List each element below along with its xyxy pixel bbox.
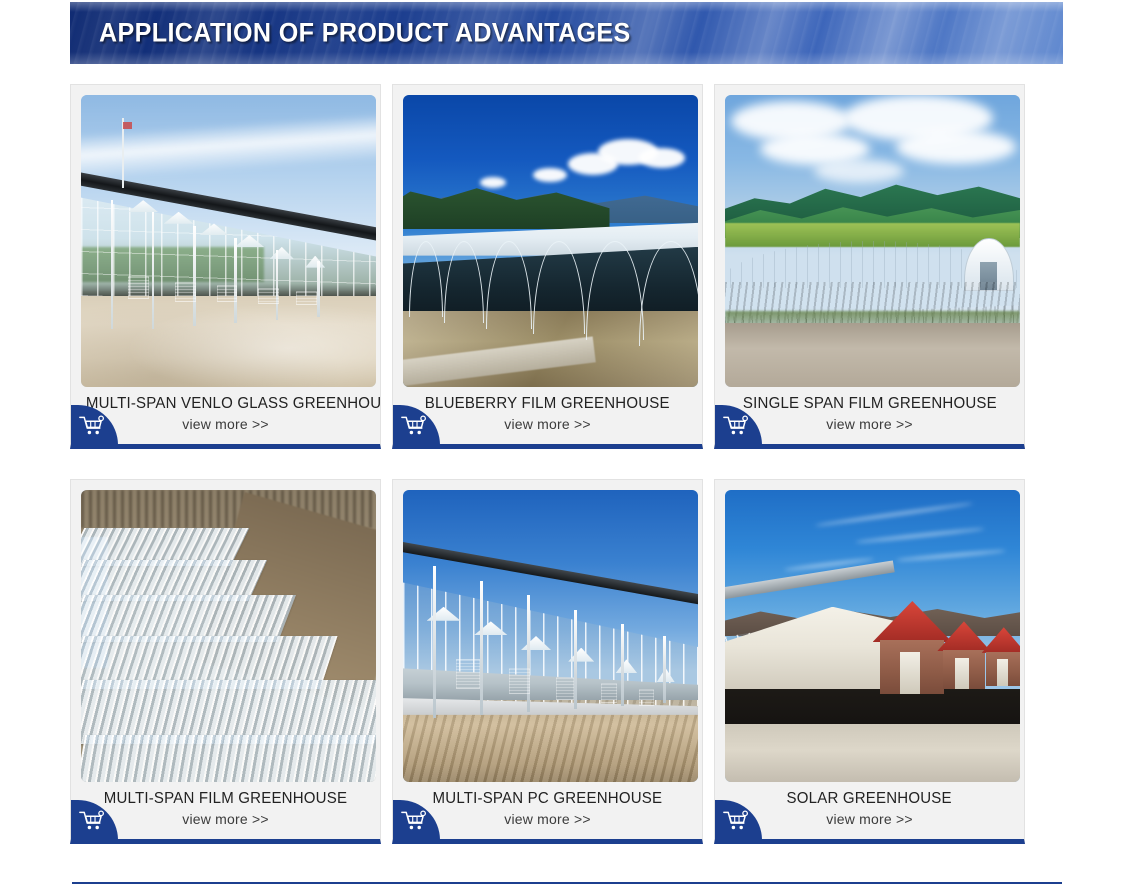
wall-vent xyxy=(296,291,317,306)
cloud xyxy=(533,168,567,182)
product-title-text: MULTI-SPAN VENLO GLASS GREENHOUSE xyxy=(86,394,381,414)
wall-vent xyxy=(601,683,617,703)
wall-vent xyxy=(556,677,574,700)
product-card-grid: MULTI-SPAN VENLO GLASS GREENHOUSE view m… xyxy=(70,84,1063,844)
product-title: MULTI-SPAN VENLO GLASS GREENHOUSE xyxy=(81,394,370,414)
red-roof xyxy=(982,627,1020,653)
product-advantages-page: APPLICATION OF PRODUCT ADVANTAGES xyxy=(0,0,1133,889)
product-photo[interactable] xyxy=(725,95,1020,387)
product-photo[interactable] xyxy=(403,95,698,387)
wall-vent xyxy=(128,276,149,299)
shopping-cart-icon xyxy=(723,810,749,832)
product-card-body: MULTI-SPAN FILM GREENHOUSE view more >> xyxy=(81,782,370,839)
wall-vent xyxy=(639,689,654,707)
concrete-road xyxy=(725,724,1020,782)
product-title: MULTI-SPAN PC GREENHOUSE xyxy=(403,789,692,809)
support-column xyxy=(111,200,114,328)
support-column xyxy=(193,226,196,325)
wall-vent xyxy=(509,668,530,694)
product-photo[interactable] xyxy=(81,95,376,387)
view-more-link[interactable]: view more >> xyxy=(725,811,1014,827)
flag-pole xyxy=(122,118,124,188)
section-divider xyxy=(72,882,1062,884)
product-photo[interactable] xyxy=(403,490,698,782)
support-column xyxy=(574,610,577,709)
product-title: SOLAR GREENHOUSE xyxy=(725,789,1014,809)
support-column xyxy=(152,212,155,329)
view-more-link[interactable]: view more >> xyxy=(403,416,692,432)
product-title-text: BLUEBERRY FILM GREENHOUSE xyxy=(425,394,670,414)
product-photo[interactable] xyxy=(725,490,1020,782)
view-more-link[interactable]: view more >> xyxy=(403,811,692,827)
product-title-text: MULTI-SPAN PC GREENHOUSE xyxy=(433,789,663,809)
product-card[interactable]: SINGLE SPAN FILM GREENHOUSE view more >> xyxy=(714,84,1025,449)
support-column xyxy=(480,581,483,715)
product-title-text: MULTI-SPAN FILM GREENHOUSE xyxy=(104,789,347,809)
product-card-body: MULTI-SPAN VENLO GLASS GREENHOUSE view m… xyxy=(81,387,370,444)
product-title: SINGLE SPAN FILM GREENHOUSE xyxy=(725,394,1014,414)
banner-highlight-top xyxy=(70,2,1063,12)
hut-door xyxy=(955,658,969,688)
wall-vent xyxy=(258,288,279,304)
shopping-cart-icon xyxy=(723,415,749,437)
product-card-body: SINGLE SPAN FILM GREENHOUSE view more >> xyxy=(725,387,1014,444)
support-column xyxy=(433,566,436,718)
banner-highlight-bottom xyxy=(70,52,1063,64)
product-card-body: BLUEBERRY FILM GREENHOUSE view more >> xyxy=(403,387,692,444)
view-more-link[interactable]: view more >> xyxy=(725,416,1014,432)
product-card[interactable]: MULTI-SPAN PC GREENHOUSE view more >> xyxy=(392,479,703,844)
entrance-hut xyxy=(982,627,1020,685)
page-title-text: APPLICATION OF PRODUCT ADVANTAGES xyxy=(99,18,631,49)
support-column xyxy=(234,238,237,323)
wall-vent xyxy=(456,659,480,688)
cloud xyxy=(639,148,685,168)
shopping-cart-icon xyxy=(401,810,427,832)
cloud xyxy=(814,159,904,183)
wall-vent xyxy=(217,285,238,303)
cloud xyxy=(896,130,1016,164)
shopping-cart-icon xyxy=(79,415,105,437)
greenhouse-row xyxy=(81,595,296,642)
view-more-link[interactable]: view more >> xyxy=(81,416,370,432)
dirt-road xyxy=(725,323,1020,387)
shopping-cart-icon xyxy=(401,415,427,437)
cloud xyxy=(480,177,506,188)
hut-door xyxy=(997,659,1009,685)
product-card-body: SOLAR GREENHOUSE view more >> xyxy=(725,782,1014,839)
ground-layer xyxy=(81,291,376,387)
support-column xyxy=(663,636,666,703)
product-card[interactable]: SOLAR GREENHOUSE view more >> xyxy=(714,479,1025,844)
product-card[interactable]: MULTI-SPAN FILM GREENHOUSE view more >> xyxy=(70,479,381,844)
product-photo[interactable] xyxy=(81,490,376,782)
product-title: BLUEBERRY FILM GREENHOUSE xyxy=(403,394,692,414)
view-more-link[interactable]: view more >> xyxy=(81,811,370,827)
product-title-text: SOLAR GREENHOUSE xyxy=(787,789,952,809)
support-column xyxy=(527,595,530,712)
shopping-cart-icon xyxy=(79,810,105,832)
support-column xyxy=(317,261,320,316)
support-column xyxy=(276,250,279,320)
product-card[interactable]: MULTI-SPAN VENLO GLASS GREENHOUSE view m… xyxy=(70,84,381,449)
product-card[interactable]: BLUEBERRY FILM GREENHOUSE view more >> xyxy=(392,84,703,449)
hut-door xyxy=(900,652,921,694)
product-title-text: SINGLE SPAN FILM GREENHOUSE xyxy=(743,394,997,414)
section-banner: APPLICATION OF PRODUCT ADVANTAGES xyxy=(70,2,1063,64)
page-title: APPLICATION OF PRODUCT ADVANTAGES xyxy=(99,18,671,49)
wall-vent xyxy=(175,282,196,302)
greenhouse-row xyxy=(81,735,376,782)
product-card-body: MULTI-SPAN PC GREENHOUSE view more >> xyxy=(403,782,692,839)
product-title: MULTI-SPAN FILM GREENHOUSE xyxy=(81,789,370,809)
support-column xyxy=(621,624,624,706)
